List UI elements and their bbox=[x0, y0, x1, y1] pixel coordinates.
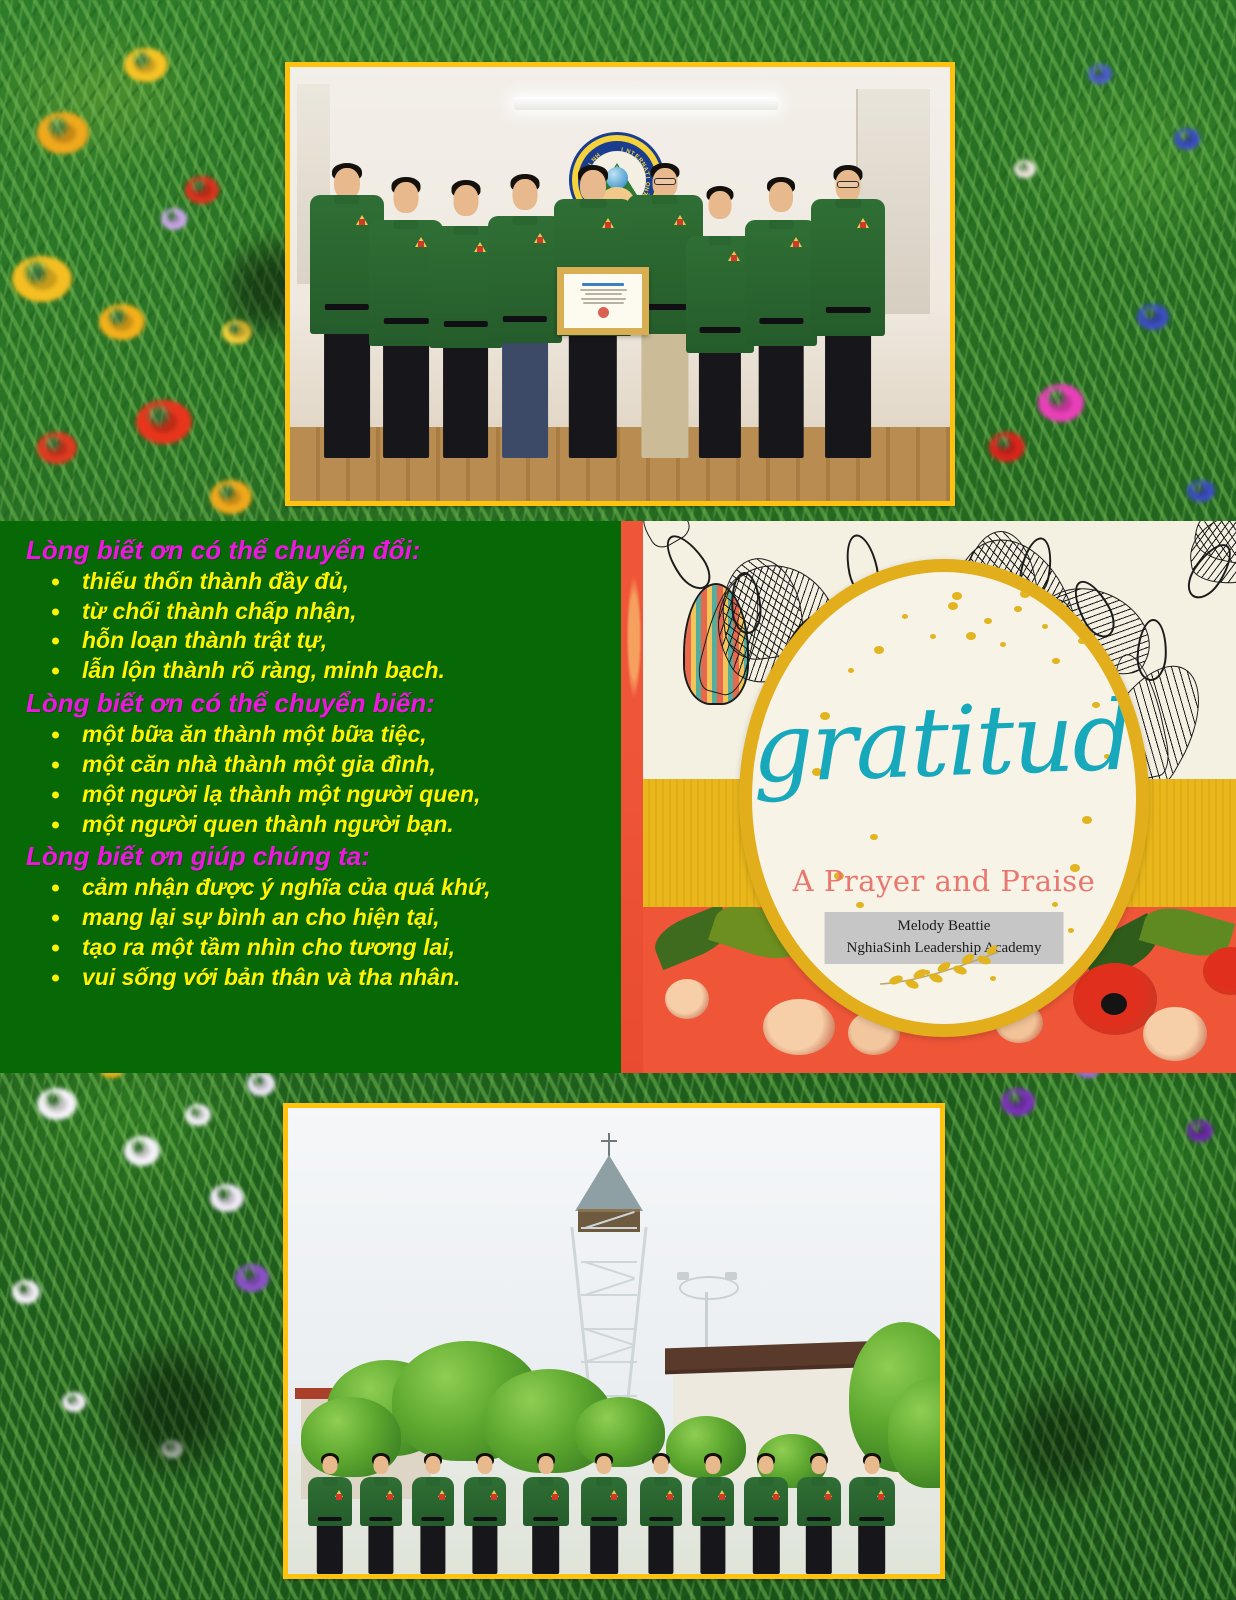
person-figure bbox=[849, 1453, 895, 1574]
laurel-sprig-icon bbox=[874, 944, 1014, 990]
bell-tower-photo-content bbox=[288, 1108, 940, 1574]
person-figure bbox=[581, 1453, 627, 1574]
quote-list-item: một người quen thành người bạn. bbox=[18, 810, 621, 840]
quote-list-item: mang lại sự bình an cho hiện tại, bbox=[18, 903, 621, 933]
certificate-seal-icon bbox=[598, 307, 609, 318]
gratitude-quote-panel: Lòng biết ơn có thể chuyển đổi:thiếu thố… bbox=[0, 521, 621, 1073]
quote-list-item: tạo ra một tầm nhìn cho tương lai, bbox=[18, 933, 621, 963]
confetti-dot bbox=[1020, 590, 1030, 598]
person-figure bbox=[360, 1453, 402, 1574]
confetti-dot bbox=[1068, 928, 1074, 933]
tower-roof bbox=[575, 1155, 643, 1211]
confetti-dot bbox=[1042, 624, 1048, 629]
confetti-dot bbox=[1014, 606, 1022, 612]
bell-tower-group-photo bbox=[283, 1103, 945, 1579]
confetti-dot bbox=[902, 614, 908, 619]
person-figure bbox=[797, 1453, 841, 1574]
quote-list-item: cảm nhận được ý nghĩa của quá khứ, bbox=[18, 873, 621, 903]
quote-list-item: từ chối thành chấp nhận, bbox=[18, 597, 621, 627]
confetti-dot bbox=[952, 592, 962, 600]
quote-list-item: một người lạ thành một người quen, bbox=[18, 780, 621, 810]
group-of-volunteers-outdoor bbox=[288, 1453, 940, 1574]
confetti-dot bbox=[856, 902, 864, 908]
poster-canvas: NGHIA SINHINTERNATIONALFOUNDED 1963 bbox=[0, 0, 1236, 1600]
person-figure bbox=[308, 1453, 352, 1574]
gratitude-subtitle: A Prayer and Praise bbox=[752, 864, 1136, 898]
person-figure bbox=[412, 1453, 454, 1574]
cover-center-medallion: gratitude A Prayer and Praise Melody Bea… bbox=[739, 559, 1149, 1037]
cover-flower bbox=[665, 979, 709, 1019]
confetti-dot bbox=[870, 834, 878, 840]
quote-heading: Lòng biết ơn giúp chúng ta: bbox=[26, 841, 621, 872]
person-figure bbox=[692, 1453, 734, 1574]
confetti-dot bbox=[930, 634, 936, 639]
quote-heading: Lòng biết ơn có thể chuyển đổi: bbox=[26, 535, 621, 566]
confetti-dot bbox=[984, 618, 992, 624]
confetti-dot bbox=[848, 668, 854, 673]
person-figure bbox=[640, 1453, 682, 1574]
quote-list-item: vui sống với bản thân và tha nhân. bbox=[18, 963, 621, 993]
confetti-dot bbox=[1052, 902, 1058, 907]
person-figure bbox=[464, 1453, 506, 1574]
ceiling-light-fixture bbox=[514, 97, 778, 110]
certificate-of-merit bbox=[557, 267, 649, 335]
person-figure bbox=[686, 186, 754, 458]
person-figure bbox=[745, 177, 817, 457]
cross-icon bbox=[608, 1133, 610, 1157]
award-ceremony-photo: NGHIA SINHINTERNATIONALFOUNDED 1963 bbox=[285, 62, 955, 506]
confetti-dot bbox=[1082, 816, 1092, 824]
quote-list: một bữa ăn thành một bữa tiệc,một căn nh… bbox=[18, 720, 621, 840]
quote-list: thiếu thốn thành đầy đủ,từ chối thành ch… bbox=[18, 567, 621, 687]
confetti-dot bbox=[966, 632, 976, 640]
confetti-dot bbox=[1078, 638, 1086, 644]
quote-list-item: lẫn lộn thành rõ ràng, minh bạch. bbox=[18, 656, 621, 686]
cover-flower bbox=[763, 999, 835, 1055]
person-figure bbox=[523, 1453, 569, 1574]
person-figure bbox=[488, 174, 562, 457]
confetti-dot bbox=[948, 602, 958, 610]
quote-list-item: một căn nhà thành một gia đình, bbox=[18, 750, 621, 780]
gratitude-title: gratitude bbox=[750, 687, 1137, 796]
cover-flower bbox=[1143, 1007, 1207, 1061]
quote-list-item: thiếu thốn thành đầy đủ, bbox=[18, 567, 621, 597]
quote-heading: Lòng biết ơn có thể chuyển biến: bbox=[26, 688, 621, 719]
credit-author: Melody Beattie bbox=[847, 916, 1042, 938]
person-figure bbox=[811, 165, 885, 457]
cover-flower-center bbox=[1101, 993, 1127, 1015]
quote-list: cảm nhận được ý nghĩa của quá khứ,mang l… bbox=[18, 873, 621, 993]
person-figure bbox=[744, 1453, 788, 1574]
quote-list-item: một bữa ăn thành một bữa tiệc, bbox=[18, 720, 621, 750]
quote-list-item: hỗn loạn thành trật tự, bbox=[18, 626, 621, 656]
confetti-dot bbox=[874, 646, 884, 654]
award-photo-content: NGHIA SINHINTERNATIONALFOUNDED 1963 bbox=[290, 67, 950, 501]
confetti-dot bbox=[1000, 642, 1006, 647]
gratitude-book-cover: gratitude A Prayer and Praise Melody Bea… bbox=[621, 521, 1236, 1073]
confetti-dot bbox=[1052, 658, 1060, 664]
